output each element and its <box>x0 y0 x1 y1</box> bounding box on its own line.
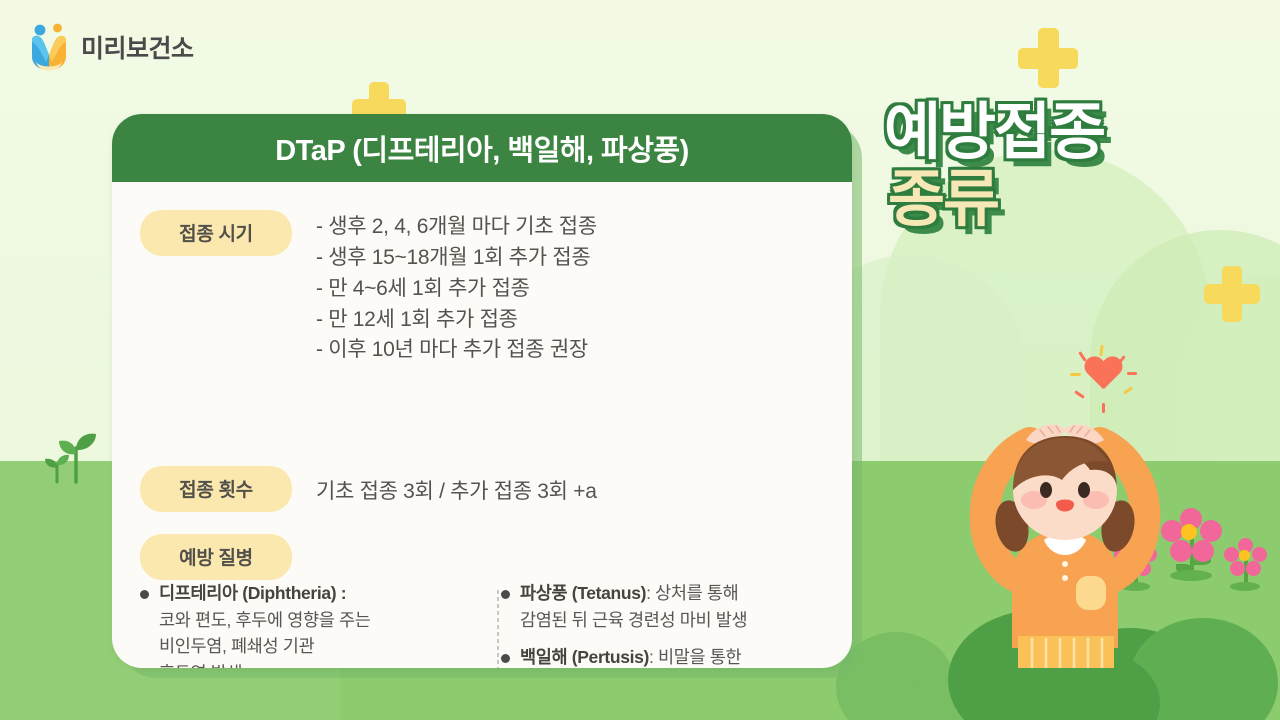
schedule-line: - 생후 2, 4, 6개월 마다 기초 접종 <box>316 212 597 243</box>
schedule-line: - 이후 10년 마다 추가 접종 권장 <box>316 335 597 366</box>
medical-cross-icon <box>1204 266 1260 322</box>
card-body: 접종 시기 - 생후 2, 4, 6개월 마다 기초 접종 - 생후 15~18… <box>112 182 852 668</box>
page-title-line2: 종류 <box>888 171 1214 228</box>
disease-desc-line: : 상처를 통해 <box>646 583 738 603</box>
schedule-lines: - 생후 2, 4, 6개월 마다 기초 접종 - 생후 15~18개월 1회 … <box>316 210 597 366</box>
card-header: DTaP (디프테리아, 백일해, 파상풍) <box>112 114 852 182</box>
flower-icon <box>1218 538 1280 588</box>
heart-icon <box>1068 345 1140 417</box>
schedule-section: 접종 시기 - 생후 2, 4, 6개월 마다 기초 접종 - 생후 15~18… <box>140 210 597 366</box>
schedule-line: - 만 4~6세 1회 추가 접종 <box>316 274 597 305</box>
disease-name: 파상풍 (Tetanus) <box>520 583 646 603</box>
two-people-m-logo-icon <box>26 22 72 72</box>
column-divider <box>497 590 499 668</box>
list-item: 백일해 (Pertusis): 비말을 통한 호흡기 감염 뒤 기침 구토 발생 <box>501 644 830 668</box>
schedule-line: - 만 12세 1회 추가 접종 <box>316 305 597 336</box>
poster-canvas: 미리보건소 예방접종 종류 DTaP (디프테리아, 백일해, 파상풍) 접종 … <box>0 0 1280 720</box>
disease-column-right: 파상풍 (Tetanus): 상처를 통해 감염된 뒤 근육 경련성 마비 발생… <box>501 580 830 668</box>
prevented-diseases-section: 예방 질병 <box>140 534 292 580</box>
girl-arms-heart-illustration <box>940 398 1190 668</box>
dose-count-value-wrap: 기초 접종 3회 / 추가 접종 3회 +a <box>316 466 597 505</box>
vaccine-info-card: DTaP (디프테리아, 백일해, 파상풍) 접종 시기 - 생후 2, 4, … <box>112 114 852 668</box>
bullet-icon <box>501 654 510 663</box>
schedule-line: - 생후 15~18개월 1회 추가 접종 <box>316 243 597 274</box>
list-item: 파상풍 (Tetanus): 상처를 통해 감염된 뒤 근육 경련성 마비 발생 <box>501 580 830 633</box>
disease-desc-line: : 비말을 통한 <box>649 647 741 667</box>
disease-desc-line: 코와 편도, 후두에 영향을 주는 <box>159 610 371 630</box>
disease-name: 백일해 (Pertusis) <box>520 647 649 667</box>
card-title: DTaP (디프테리아, 백일해, 파상풍) <box>275 127 689 169</box>
schedule-label: 접종 시기 <box>140 210 292 256</box>
dose-count-value: 기초 접종 3회 / 추가 접종 3회 +a <box>316 468 597 505</box>
bullet-icon <box>501 590 510 599</box>
brand-name: 미리보건소 <box>81 29 194 65</box>
prevented-diseases-label: 예방 질병 <box>140 534 292 580</box>
medical-cross-icon <box>1018 28 1078 88</box>
dose-count-label: 접종 횟수 <box>140 466 292 512</box>
disease-text: 백일해 (Pertusis): 비말을 통한 호흡기 감염 뒤 기침 구토 발생 <box>520 644 741 668</box>
dose-count-section: 접종 횟수 기초 접종 3회 / 추가 접종 3회 +a <box>140 466 597 512</box>
bullet-icon <box>140 590 149 599</box>
disease-columns: 디프테리아 (Diphtheria) : 코와 편도, 후두에 영향을 주는 비… <box>140 580 830 668</box>
disease-desc-line: 후두염 발생 <box>159 663 242 668</box>
disease-text: 디프테리아 (Diphtheria) : 코와 편도, 후두에 영향을 주는 비… <box>159 580 371 668</box>
disease-desc-line: 비인두염, 폐쇄성 기관 <box>159 636 314 656</box>
disease-desc-line: 감염된 뒤 근육 경련성 마비 발생 <box>520 610 747 630</box>
brand-logo[interactable]: 미리보건소 <box>26 22 194 72</box>
disease-text: 파상풍 (Tetanus): 상처를 통해 감염된 뒤 근육 경련성 마비 발생 <box>520 580 747 633</box>
list-item: 디프테리아 (Diphtheria) : 코와 편도, 후두에 영향을 주는 비… <box>140 580 469 668</box>
page-title-line1: 예방접종 <box>884 104 1214 161</box>
page-title: 예방접종 종류 <box>884 104 1214 228</box>
disease-name: 디프테리아 (Diphtheria) : <box>159 583 346 603</box>
disease-column-left: 디프테리아 (Diphtheria) : 코와 편도, 후두에 영향을 주는 비… <box>140 580 469 668</box>
